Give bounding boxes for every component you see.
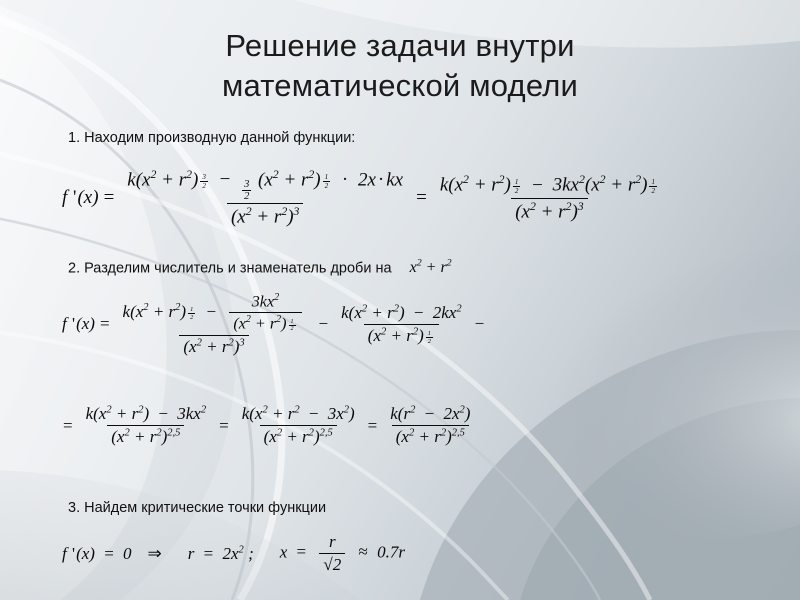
formula-1-equals-2: = — [411, 187, 432, 209]
formula-3-numerator-c: k(r2 − 2x2) — [386, 404, 474, 425]
formula-2-equals: = — [95, 314, 115, 334]
title-line-2: математической модели — [222, 68, 578, 103]
formula-3-fraction-b: k(x2 + r2 − 3x2) (x2 + r2)2,5 — [238, 404, 359, 447]
formula-2: f '(x) = k(x2 + r2)12 − 3kx2 (x2 + r2)12… — [62, 292, 489, 357]
formula-3-fraction-a: k(x2 + r2) − 3kx2 (x2 + r2)2,5 — [82, 404, 211, 447]
formula-2-numerator-a: k(x2 + r2)12 − 3kx2 (x2 + r2)12 — [119, 292, 310, 335]
step-2-divisor: x2 + r2 — [396, 259, 452, 276]
formula-2-lhs: f '(x) — [62, 314, 95, 334]
formula-3-denominator-c: (x2 + r2)2,5 — [392, 425, 469, 447]
formula-2-denominator-a: (x2 + r2)3 — [179, 335, 248, 357]
formula-1-denominator-b: (x2 + r2)3 — [511, 198, 587, 223]
formula-3: = k(x2 + r2) − 3kx2 (x2 + r2)2,5 = k(x2 … — [58, 404, 478, 447]
formula-4-arrow: ⇒ — [132, 544, 178, 564]
formula-2-fraction-a: k(x2 + r2)12 − 3kx2 (x2 + r2)12 (x2 + r2… — [119, 292, 310, 357]
formula-1-fraction-b: k(x2 + r2)12 − 3kx2(x2 + r2)12 (x2 + r2)… — [436, 173, 663, 223]
formula-3-denominator-b: (x2 + r2)2,5 — [260, 425, 337, 447]
step-1-text: 1. Находим производную данной функции: — [68, 130, 355, 146]
formula-3-numerator-a: k(x2 + r2) − 3kx2 — [82, 404, 211, 425]
formula-2-numerator-b: k(x2 + r2) − 2kx2 — [337, 303, 466, 324]
formula-4-denominator: √2 — [319, 553, 345, 575]
formula-3-equals-1: = — [214, 416, 234, 436]
formula-2-fraction-b: k(x2 + r2) − 2kx2 (x2 + r2)12 — [337, 303, 466, 346]
formula-2-denominator-b: (x2 + r2)12 — [364, 324, 439, 346]
slide: Решение задачи внутри математической мод… — [0, 0, 800, 600]
formula-4-root: r = 2x2 ; — [178, 544, 264, 564]
formula-1-denominator-a: (x2 + r2)3 — [227, 203, 303, 228]
formula-3-numerator-b: k(x2 + r2 − 3x2) — [238, 404, 359, 425]
formula-4-equation: f '(x) = 0 — [62, 544, 132, 564]
page-title: Решение задачи внутри математической мод… — [60, 26, 740, 105]
formula-1-numerator-a: k(x2 + r2)32 − 32 (x2 + r2)12 · 2x·kx — [123, 168, 407, 203]
formula-3-equals-0: = — [58, 416, 78, 436]
formula-2-equals-2: − — [314, 314, 334, 334]
step-3-text: 3. Найдем критические точки функции — [68, 500, 326, 516]
formula-4-critical-point: x = r √2 ≈ 0.7r — [264, 532, 421, 575]
title-line-1: Решение задачи внутри — [225, 28, 574, 63]
formula-1-lhs: f '(x) — [62, 187, 99, 209]
formula-1-fraction-a: k(x2 + r2)32 − 32 (x2 + r2)12 · 2x·kx (x… — [123, 168, 407, 228]
formula-3-equals-2: = — [363, 416, 383, 436]
formula-2-trailing-dash: − — [470, 314, 490, 334]
formula-1-equals: = — [99, 187, 120, 209]
formula-1: f '(x) = k(x2 + r2)32 − 32 (x2 + r2)12 ·… — [62, 168, 667, 228]
step-2-label: 2. Разделим числитель и знаменатель дроб… — [68, 260, 392, 276]
formula-3-fraction-c: k(r2 − 2x2) (x2 + r2)2,5 — [386, 404, 474, 447]
step-2-text: 2. Разделим числитель и знаменатель дроб… — [68, 258, 452, 277]
formula-4: f '(x) = 0 ⇒ r = 2x2 ; x = r √2 ≈ 0.7r — [62, 532, 421, 575]
formula-4-numerator: r — [325, 532, 340, 553]
formula-3-denominator-a: (x2 + r2)2,5 — [107, 425, 184, 447]
formula-1-numerator-b: k(x2 + r2)12 − 3kx2(x2 + r2)12 — [436, 173, 663, 197]
